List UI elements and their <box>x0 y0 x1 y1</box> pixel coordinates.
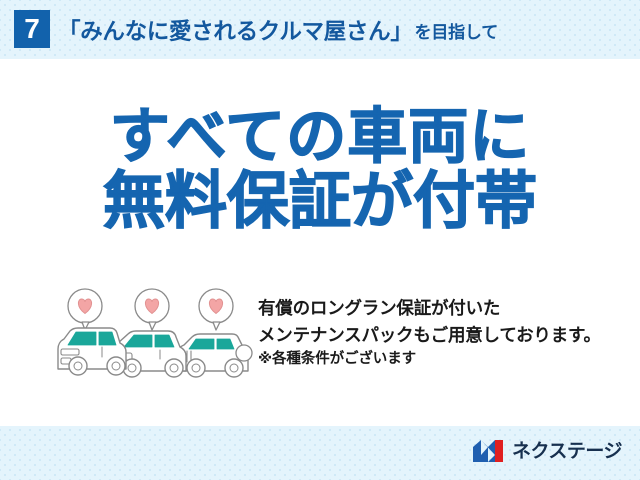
nextage-n-logo-icon <box>472 438 506 464</box>
car-suv <box>176 334 252 377</box>
heart-bubble-1 <box>68 289 102 330</box>
heart-bubble-3 <box>199 289 233 330</box>
heart-bubble-2 <box>135 289 169 330</box>
page-headline: すべての車両に 無料保証が付帯 <box>0 105 640 234</box>
nextage-logo: ネクステージ <box>472 436 622 466</box>
cars-illustration <box>56 287 256 387</box>
header-title-suffix: を目指して <box>413 18 499 43</box>
description-note: ※各種条件がございます <box>258 348 630 370</box>
headline-line-2: 無料保証が付帯 <box>0 169 640 235</box>
step-number-badge: 7 <box>14 10 50 48</box>
header-title-quoted: 「みんなに愛されるクルマ屋さん」 <box>58 14 413 46</box>
description-line-2: メンテナンスパックもご用意しております。 <box>258 322 630 349</box>
header-band: 7 「みんなに愛されるクルマ屋さん」 を目指して <box>0 0 640 59</box>
content-card: すべての車両に 無料保証が付帯 <box>0 59 640 426</box>
nextage-logo-text: ネクステージ <box>512 442 622 461</box>
headline-line-1: すべての車両に <box>0 105 640 169</box>
car-kei-wagon <box>58 328 126 375</box>
lower-row: 有償のロングラン保証が付いた メンテナンスパックもご用意しております。 ※各種条… <box>0 287 640 397</box>
header-title: 「みんなに愛されるクルマ屋さん」 を目指して <box>58 12 633 48</box>
promo-banner: 7 「みんなに愛されるクルマ屋さん」 を目指して すべての車両に 無料保証が付帯 <box>0 0 640 480</box>
description-block: 有償のロングラン保証が付いた メンテナンスパックもご用意しております。 ※各種条… <box>258 295 630 370</box>
description-line-1: 有償のロングラン保証が付いた <box>258 295 630 322</box>
